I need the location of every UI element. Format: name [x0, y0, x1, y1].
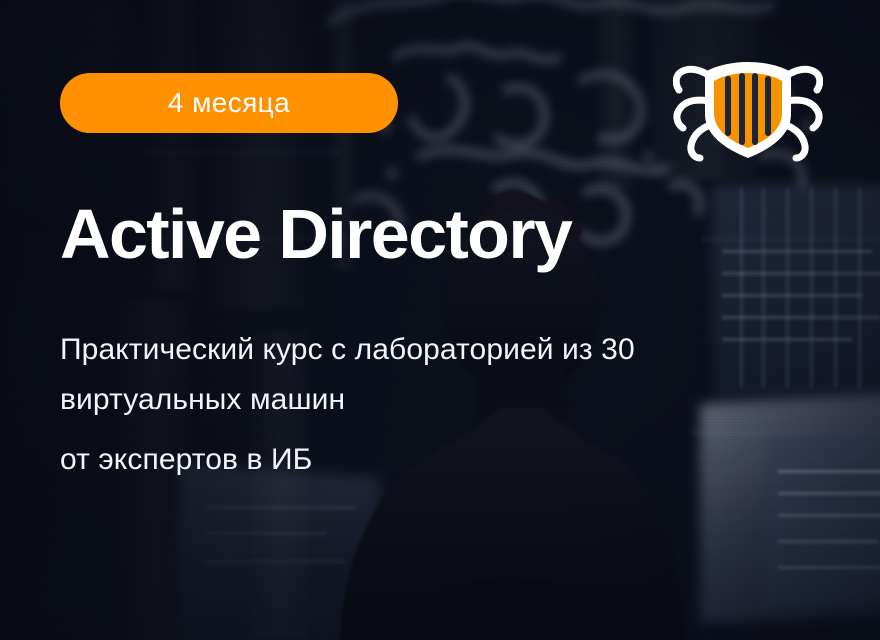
page-title: Active Directory [60, 198, 571, 271]
banner-content: 4 месяца [0, 0, 880, 640]
subtitle-line-2: виртуальных машин [60, 375, 790, 425]
duration-badge[interactable]: 4 месяца [60, 73, 398, 133]
subtitle-line-3: от экспертов в ИБ [60, 435, 790, 485]
course-subtitle: Практический курс с лабораторией из 30 в… [60, 325, 790, 485]
beetle-shield-logo-icon [673, 52, 823, 164]
subtitle-line-1: Практический курс с лабораторией из 30 [60, 325, 790, 375]
course-promo-banner: 4 месяца [0, 0, 880, 640]
duration-badge-label: 4 месяца [168, 89, 290, 117]
